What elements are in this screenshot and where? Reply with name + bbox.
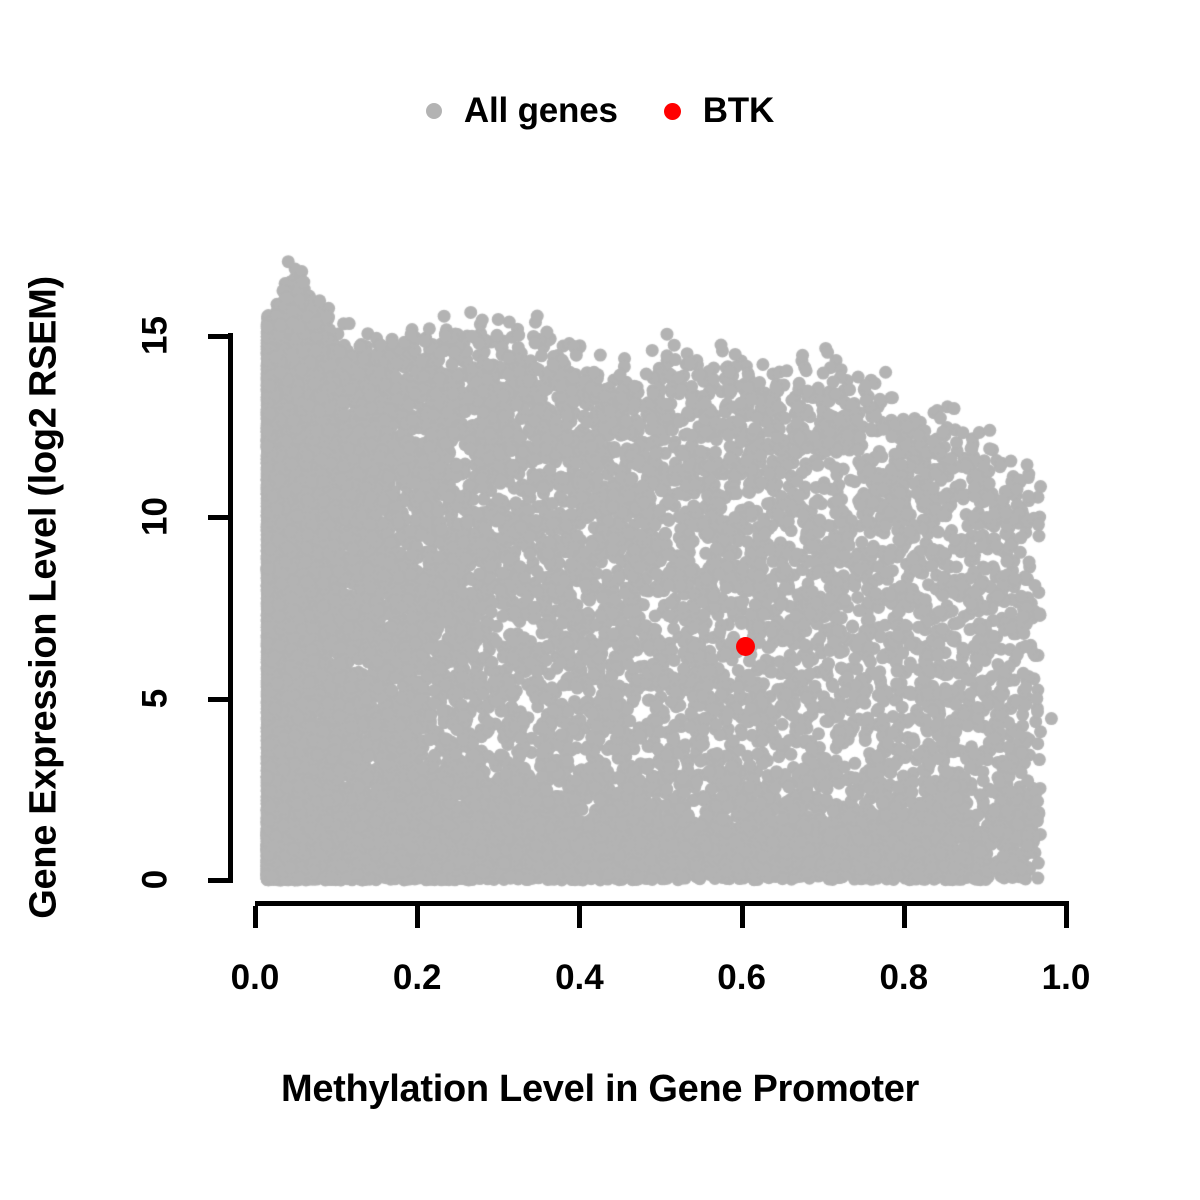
x-axis-tick-0.2	[415, 906, 420, 928]
scatter-points-layer	[0, 0, 1200, 1200]
x-axis-tick-label-0.2: 0.2	[357, 960, 477, 995]
x-axis-tick-label-0.6: 0.6	[682, 960, 802, 995]
x-axis-tick-label-1.0: 1.0	[1006, 960, 1126, 995]
x-axis-tick-0.6	[740, 906, 745, 928]
x-axis-title: Methylation Level in Gene Promoter	[0, 1068, 1200, 1111]
x-axis-tick-0.0	[253, 906, 258, 928]
y-axis-tick-0	[208, 878, 228, 883]
btk-data-point[interactable]	[736, 637, 755, 656]
x-axis-tick-0.4	[577, 906, 582, 928]
x-axis-tick-0.8	[902, 906, 907, 928]
x-axis-tick-label-0.4: 0.4	[519, 960, 639, 995]
x-axis-tick-label-0.8: 0.8	[844, 960, 964, 995]
y-axis-tick-label-15: 15	[138, 301, 173, 371]
x-axis-line	[255, 901, 1069, 906]
y-axis-tick-10	[208, 515, 228, 520]
y-axis-line	[228, 333, 233, 883]
y-axis-tick-label-10: 10	[138, 482, 173, 552]
x-axis-tick-1.0	[1064, 906, 1069, 928]
y-axis-tick-label-0: 0	[138, 845, 173, 915]
y-axis-tick-5	[208, 697, 228, 702]
plot-area: 051015 0.00.20.40.60.81.0	[0, 0, 1200, 1200]
x-axis-tick-label-0.0: 0.0	[195, 960, 315, 995]
y-axis-title: Gene Expression Level (log2 RSEM)	[23, 0, 66, 1198]
scatter-plot-figure: All genes BTK 051015 0.00.20.40.60.81.0 …	[0, 0, 1200, 1200]
y-axis-tick-label-5: 5	[138, 663, 173, 733]
y-axis-tick-15	[208, 334, 228, 339]
